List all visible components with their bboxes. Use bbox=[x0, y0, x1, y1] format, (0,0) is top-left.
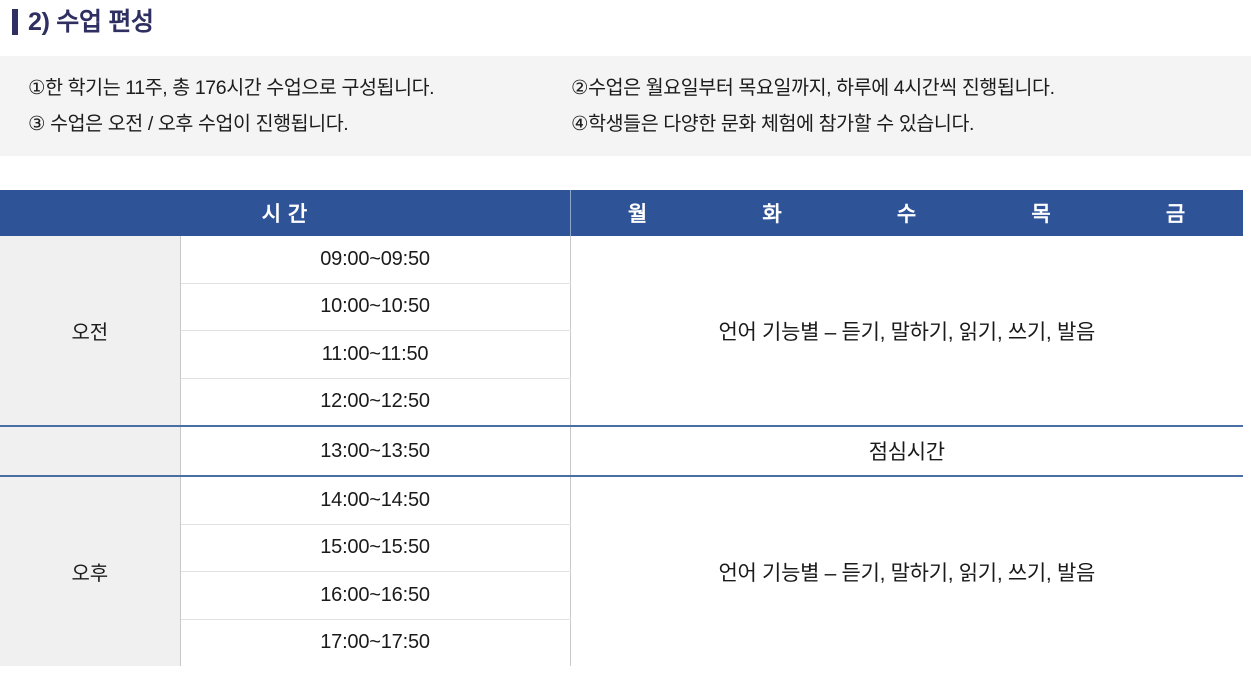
header-day-thu: 목 bbox=[974, 198, 1109, 228]
course-content-afternoon: 언어 기능별 – 듣기, 말하기, 읽기, 쓰기, 발음 bbox=[570, 476, 1243, 666]
header-days: 월 화 수 목 금 bbox=[570, 190, 1243, 236]
info-column-right: ②수업은 월요일부터 목요일까지, 하루에 4시간씩 진행됩니다. ④학생들은 … bbox=[545, 77, 1225, 136]
info-column-left: ①한 학기는 11주, 총 176시간 수업으로 구성됩니다. ③ 수업은 오전… bbox=[0, 77, 545, 136]
table-row-lunch: 13:00~13:50 점심시간 bbox=[0, 426, 1243, 476]
header-day-wed: 수 bbox=[840, 198, 975, 228]
header-day-fri: 금 bbox=[1109, 198, 1244, 228]
course-content-lunch: 점심시간 bbox=[570, 426, 1243, 476]
time-slot-lunch: 13:00~13:50 bbox=[180, 426, 570, 476]
table-row: 오전 09:00~09:50 언어 기능별 – 듣기, 말하기, 읽기, 쓰기,… bbox=[0, 236, 1243, 283]
time-slot: 17:00~17:50 bbox=[180, 619, 570, 666]
period-label-morning: 오전 bbox=[0, 236, 180, 426]
time-slot: 11:00~11:50 bbox=[180, 331, 570, 379]
info-note-2: ②수업은 월요일부터 목요일까지, 하루에 4시간씩 진행됩니다. bbox=[571, 77, 1225, 99]
table-header-row: 시 간 월 화 수 목 금 bbox=[0, 190, 1243, 236]
heading-accent-bar bbox=[12, 9, 18, 35]
info-note-3: ③ 수업은 오전 / 오후 수업이 진행됩니다. bbox=[28, 113, 545, 135]
course-content-morning: 언어 기능별 – 듣기, 말하기, 읽기, 쓰기, 발음 bbox=[570, 236, 1243, 426]
info-note-4: ④학생들은 다양한 문화 체험에 참가할 수 있습니다. bbox=[571, 113, 1225, 135]
page-title: 2) 수업 편성 bbox=[28, 10, 154, 35]
header-time: 시 간 bbox=[0, 190, 570, 236]
period-label-afternoon: 오후 bbox=[0, 476, 180, 666]
header-day-tue: 화 bbox=[705, 198, 840, 228]
section-heading: 2) 수업 편성 bbox=[0, 0, 1251, 38]
info-box: ①한 학기는 11주, 총 176시간 수업으로 구성됩니다. ③ 수업은 오전… bbox=[0, 56, 1251, 156]
table-row: 오후 14:00~14:50 언어 기능별 – 듣기, 말하기, 읽기, 쓰기,… bbox=[0, 476, 1243, 524]
info-note-1: ①한 학기는 11주, 총 176시간 수업으로 구성됩니다. bbox=[28, 77, 545, 99]
period-label-lunch bbox=[0, 426, 180, 476]
time-slot: 16:00~16:50 bbox=[180, 572, 570, 620]
time-slot: 09:00~09:50 bbox=[180, 236, 570, 283]
schedule-table: 시 간 월 화 수 목 금 오전 09:00~09:50 언어 기능별 – 듣기… bbox=[0, 190, 1243, 666]
time-slot: 15:00~15:50 bbox=[180, 524, 570, 572]
header-day-mon: 월 bbox=[571, 198, 706, 228]
time-slot: 10:00~10:50 bbox=[180, 283, 570, 331]
time-slot: 14:00~14:50 bbox=[180, 476, 570, 524]
time-slot: 12:00~12:50 bbox=[180, 378, 570, 426]
